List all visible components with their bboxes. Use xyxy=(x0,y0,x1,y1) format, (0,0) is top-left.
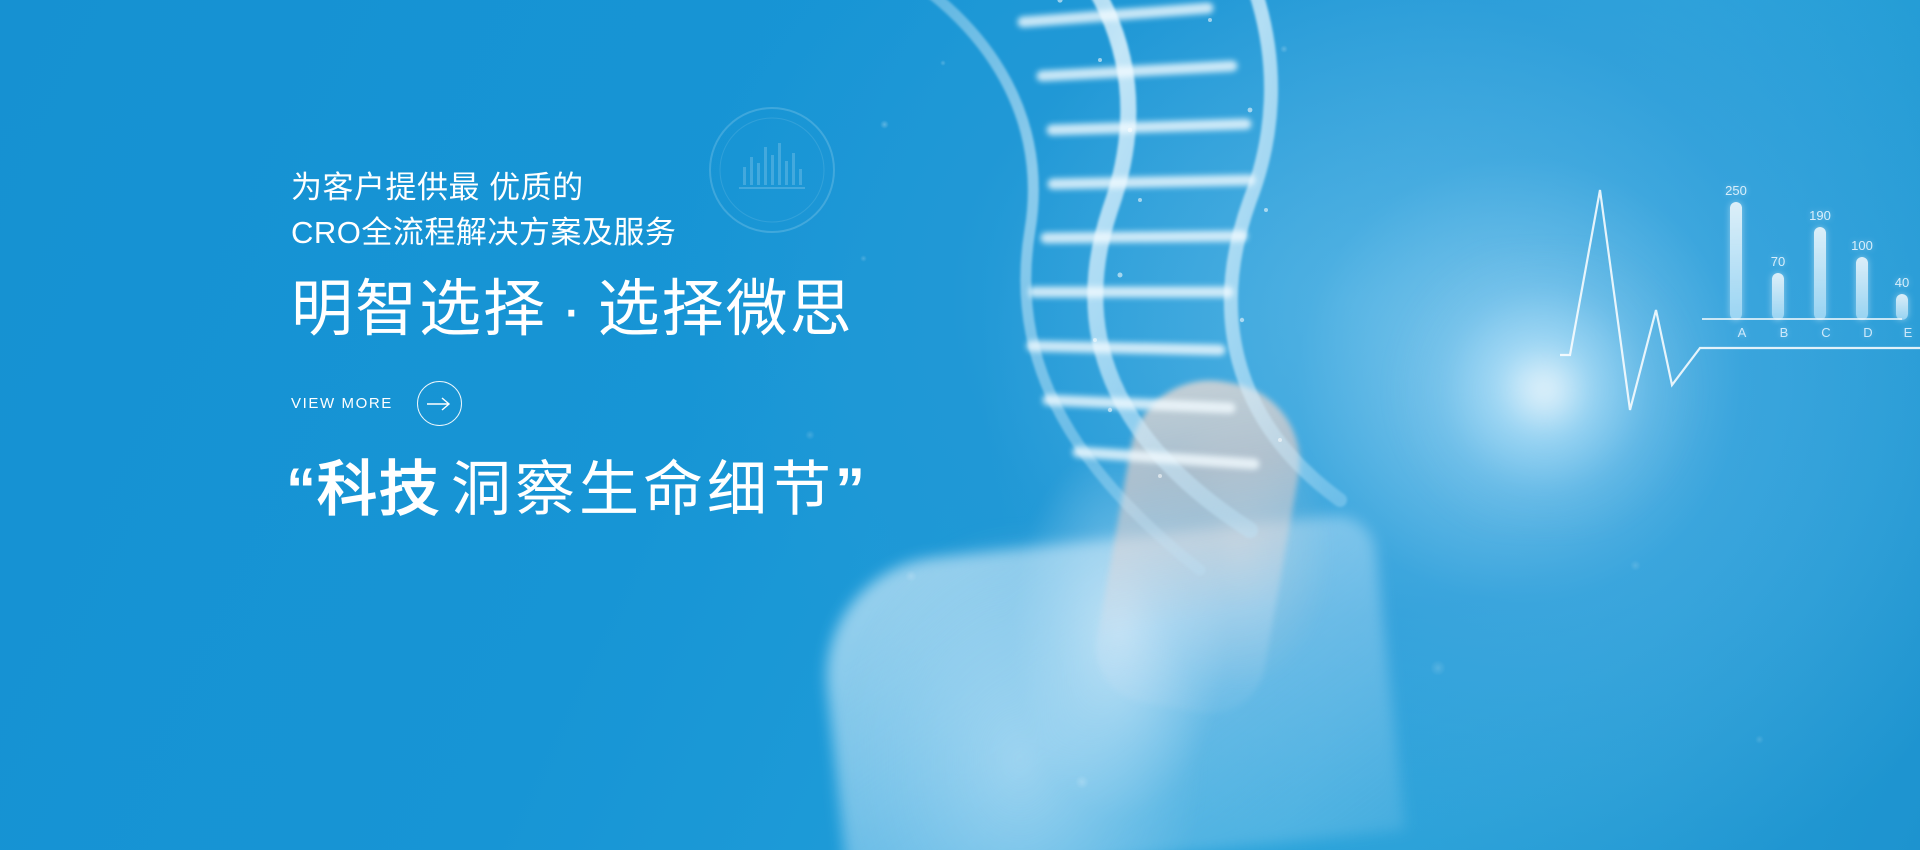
bar-chart-baseline xyxy=(1702,318,1902,320)
bokeh-particle xyxy=(1430,660,1446,676)
bar-column-d: 100 xyxy=(1856,257,1868,320)
bar-b xyxy=(1772,273,1784,320)
hero-headline: 明智选择·选择微思 xyxy=(291,275,854,344)
hero-banner: 250 70 190 100 40 A B C xyxy=(0,0,1920,850)
category-label-c: C xyxy=(1814,325,1838,340)
bar-column-b: 70 xyxy=(1772,273,1784,320)
bar-chart-plot: 250 70 190 100 40 xyxy=(1702,185,1902,320)
category-label-a: A xyxy=(1730,325,1754,340)
bokeh-particle xyxy=(1630,560,1641,571)
hero-headline-separator: · xyxy=(547,275,598,344)
hero-content: 为客户提供最 优质的 CRO全流程解决方案及服务 明智选择·选择微思 VIEW … xyxy=(291,0,1191,850)
bar-column-a: 250 xyxy=(1730,202,1742,320)
hero-headline-right: 选择微思 xyxy=(598,275,854,344)
hero-subtitle-line1: 为客户提供最 优质的 xyxy=(291,170,584,205)
bar-value-c: 190 xyxy=(1809,208,1831,223)
hero-headline-left: 明智选择 xyxy=(291,275,547,344)
category-label-d: D xyxy=(1856,325,1880,340)
bar-d xyxy=(1856,257,1868,320)
hero-quote: “科技洞察生命细节” xyxy=(286,454,866,526)
hero-subtitle-line2: CRO全流程解决方案及服务 xyxy=(291,211,676,256)
bokeh-particle xyxy=(1280,45,1288,53)
bar-chart-category-labels: A B C D E xyxy=(1702,325,1902,347)
bar-chart-overlay: 250 70 190 100 40 A B C xyxy=(1702,185,1902,360)
bar-a xyxy=(1730,202,1742,320)
bar-value-b: 70 xyxy=(1771,254,1785,269)
quote-strong-text: 科技 xyxy=(317,456,441,523)
category-label-b: B xyxy=(1772,325,1796,340)
bar-c xyxy=(1814,227,1826,320)
bar-column-c: 190 xyxy=(1814,227,1826,320)
quote-close-mark: ” xyxy=(835,456,866,523)
bar-value-e: 40 xyxy=(1895,275,1909,290)
bar-column-e: 40 xyxy=(1896,294,1908,320)
quote-light-text: 洞察生命细节 xyxy=(441,456,835,523)
arrow-right-icon-svg xyxy=(426,396,452,412)
quote-open-mark: “ xyxy=(286,456,317,523)
arrow-right-icon[interactable] xyxy=(417,381,462,426)
bar-e xyxy=(1896,294,1908,320)
bar-value-d: 100 xyxy=(1851,238,1873,253)
category-label-e: E xyxy=(1896,325,1920,340)
bokeh-particle xyxy=(1755,735,1764,744)
bar-value-a: 250 xyxy=(1725,183,1747,198)
view-more-label: VIEW MORE xyxy=(291,395,393,412)
view-more-button[interactable]: VIEW MORE xyxy=(291,381,462,426)
hero-subtitle: 为客户提供最 优质的 CRO全流程解决方案及服务 xyxy=(291,166,676,256)
